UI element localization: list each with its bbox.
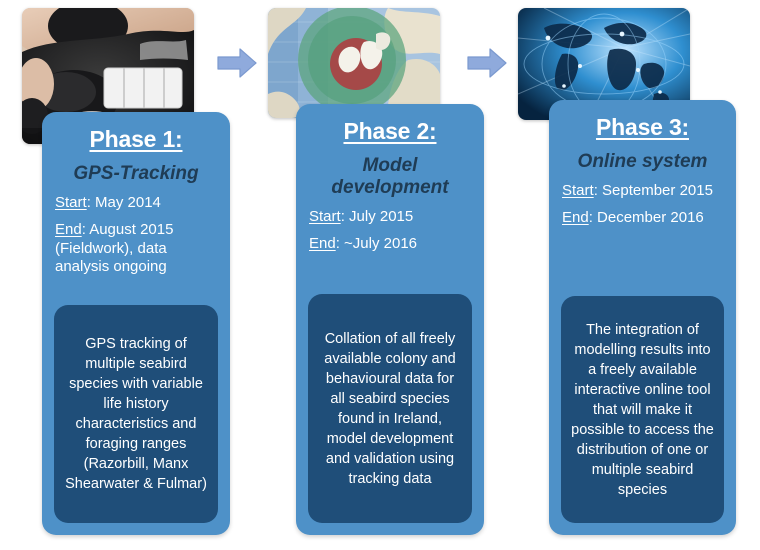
ireland-foraging-range-map — [268, 8, 440, 118]
arrow-phase1-to-phase2 — [216, 46, 258, 80]
phase-2-start-label: Start — [309, 208, 341, 225]
phase-3-end: End: December 2016 — [561, 209, 724, 227]
phase-1-description-text: GPS tracking of multiple seabird species… — [63, 334, 209, 494]
phase-1-start-label: Start — [55, 194, 87, 211]
phase-2-end-value: : ~July 2016 — [336, 235, 417, 252]
phase-3-start-value: : September 2015 — [594, 182, 713, 199]
phase-1-start: Start: May 2014 — [54, 194, 218, 212]
phase-2-end: End: ~July 2016 — [308, 235, 472, 253]
phase-2-start: Start: July 2015 — [308, 208, 472, 226]
arrow-phase2-to-phase3 — [466, 46, 508, 80]
phase-3-description-box: The integration of modelling results int… — [561, 296, 724, 523]
phase-1-subtitle: GPS-Tracking — [54, 163, 218, 185]
phase-3-end-label: End — [562, 209, 589, 226]
phase-card-2[interactable]: Phase 2: Model development Start: July 2… — [296, 104, 484, 535]
phase-2-end-label: End — [309, 235, 336, 252]
phase-3-subtitle: Online system — [561, 151, 724, 173]
phase-3-title: Phase 3: — [561, 114, 724, 141]
phase-1-end-label: End — [55, 221, 82, 238]
phase-2-subtitle: Model development — [308, 155, 472, 199]
phase-1-description-box: GPS tracking of multiple seabird species… — [54, 305, 218, 523]
phase-2-title: Phase 2: — [308, 118, 472, 145]
phase-1-start-value: : May 2014 — [87, 194, 161, 211]
phase-1-end: End: August 2015 (Fieldwork), data analy… — [54, 221, 218, 276]
phases-diagram: Phase 1: GPS-Tracking Start: May 2014 En… — [0, 0, 760, 550]
phase-1-title: Phase 1: — [54, 126, 218, 153]
phase-3-start: Start: September 2015 — [561, 182, 724, 200]
phase-2-description-text: Collation of all freely available colony… — [317, 329, 463, 489]
phase-card-1[interactable]: Phase 1: GPS-Tracking Start: May 2014 En… — [42, 112, 230, 535]
phase-3-end-value: : December 2016 — [589, 209, 704, 226]
phase-2-start-value: : July 2015 — [341, 208, 414, 225]
phase-3-description-text: The integration of modelling results int… — [570, 320, 715, 500]
phase-3-start-label: Start — [562, 182, 594, 199]
phase-2-description-box: Collation of all freely available colony… — [308, 294, 472, 523]
phase-card-3[interactable]: Phase 3: Online system Start: September … — [549, 100, 736, 535]
